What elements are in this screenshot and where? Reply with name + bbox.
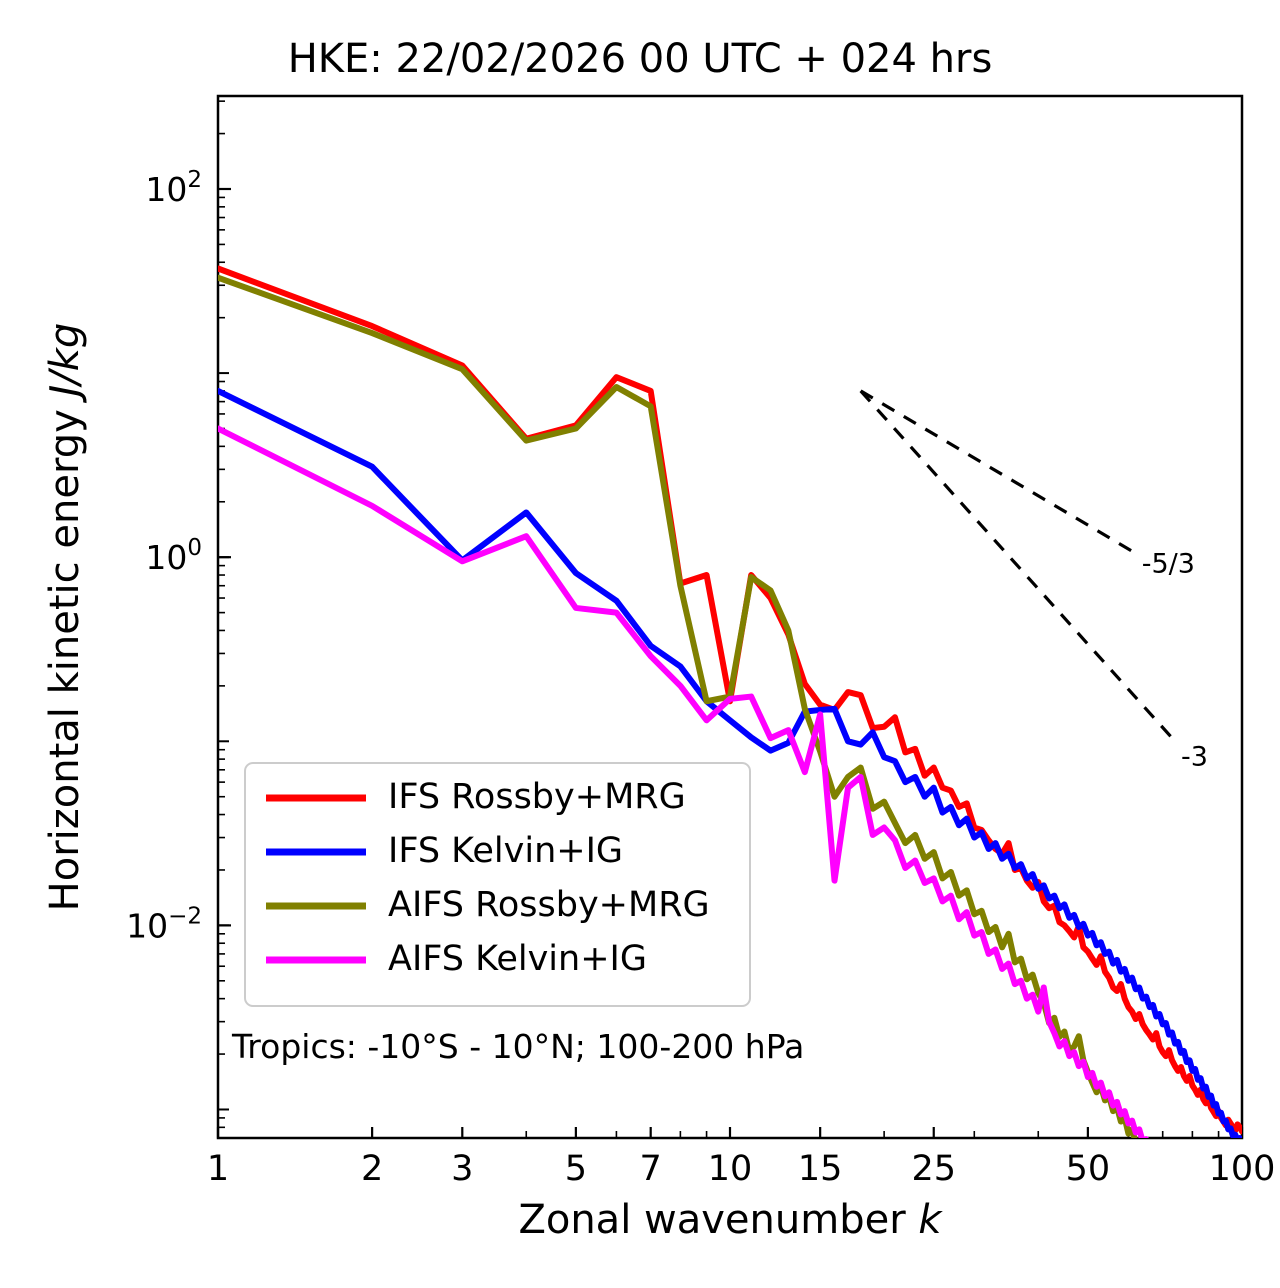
- x-tick-label: 5: [565, 1149, 587, 1189]
- x-tick-label: 3: [451, 1149, 473, 1189]
- y-axis-tick-labels: 10210010−2: [126, 167, 202, 945]
- x-tick-label: 15: [798, 1149, 843, 1189]
- legend-label[interactable]: AIFS Rossby+MRG: [388, 885, 710, 925]
- x-tick-label: 50: [1066, 1149, 1111, 1189]
- slope-label: -3: [1181, 741, 1208, 772]
- x-tick-label: 7: [640, 1149, 662, 1189]
- y-axis-title: Horizontal kinetic energy J/kg: [42, 323, 88, 912]
- legend-label[interactable]: IFS Kelvin+IG: [388, 831, 623, 871]
- x-tick-label: 10: [708, 1149, 753, 1189]
- legend-label[interactable]: AIFS Kelvin+IG: [388, 939, 647, 979]
- figure-container: HKE: 22/02/2026 00 UTC + 024 hrs 1235710…: [0, 0, 1280, 1288]
- x-tick-label: 100: [1209, 1149, 1276, 1189]
- slope-label: -5/3: [1142, 548, 1195, 579]
- y-tick-label: 10−2: [126, 903, 202, 945]
- y-tick-label: 102: [145, 167, 202, 209]
- y-tick-label: 100: [145, 535, 202, 577]
- x-tick-label: 2: [361, 1149, 383, 1189]
- x-tick-label: 1: [207, 1149, 229, 1189]
- x-axis-ticks: [218, 1127, 1242, 1138]
- x-tick-label: 25: [911, 1149, 956, 1189]
- legend-label[interactable]: IFS Rossby+MRG: [388, 777, 686, 817]
- chart-canvas: 1235710152550100 10210010−2 -5/3-3 Zonal…: [0, 0, 1280, 1288]
- x-axis-tick-labels: 1235710152550100: [207, 1149, 1276, 1189]
- x-axis-title: Zonal wavenumber k: [518, 1197, 943, 1243]
- chart-legend[interactable]: IFS Rossby+MRGIFS Kelvin+IGAIFS Rossby+M…: [245, 763, 750, 1006]
- region-annotation: Tropics: -10°S - 10°N; 100-200 hPa: [231, 1027, 804, 1066]
